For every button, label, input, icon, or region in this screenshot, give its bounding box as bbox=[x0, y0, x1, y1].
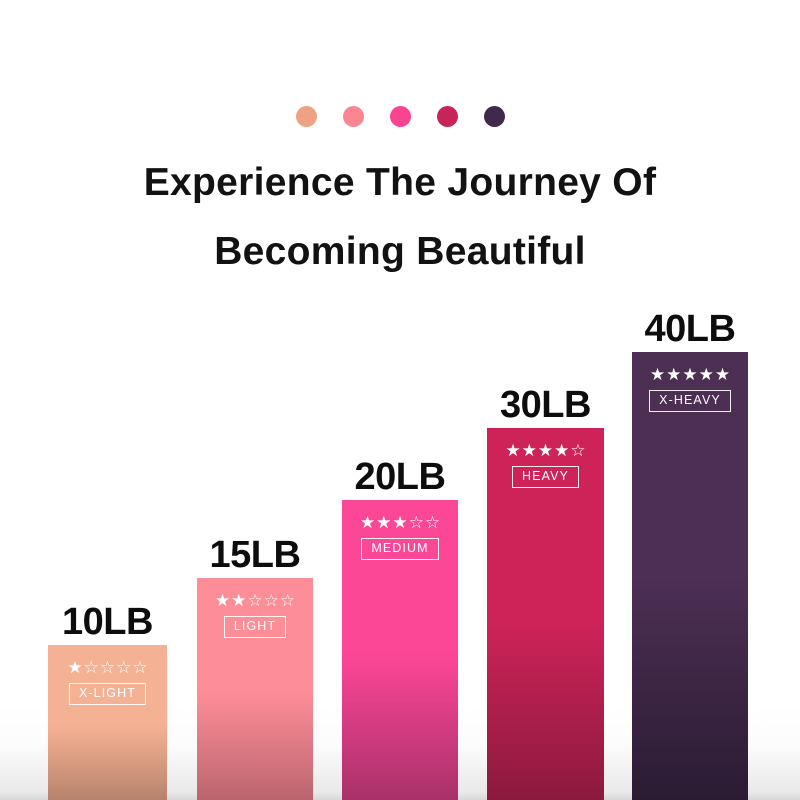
bar-content: ★★★★★X-HEAVY bbox=[632, 366, 748, 412]
bar-group-10lb[interactable]: 10LB★☆☆☆☆X-LIGHT bbox=[48, 645, 167, 800]
star-rating: ★★★☆☆ bbox=[360, 514, 440, 531]
star-empty-icon: ☆ bbox=[570, 442, 585, 459]
bar-content: ★★★☆☆MEDIUM bbox=[342, 514, 458, 560]
star-filled-icon: ★ bbox=[650, 366, 665, 383]
star-empty-icon: ☆ bbox=[425, 514, 440, 531]
star-filled-icon: ★ bbox=[699, 366, 714, 383]
star-empty-icon: ☆ bbox=[116, 659, 131, 676]
star-rating: ★☆☆☆☆ bbox=[67, 659, 147, 676]
star-filled-icon: ★ bbox=[505, 442, 520, 459]
star-empty-icon: ☆ bbox=[100, 659, 115, 676]
bar-group-20lb[interactable]: 20LB★★★☆☆MEDIUM bbox=[342, 500, 458, 800]
star-filled-icon: ★ bbox=[392, 514, 407, 531]
bar-weight-label: 15LB bbox=[210, 536, 301, 574]
star-filled-icon: ★ bbox=[522, 442, 537, 459]
star-filled-icon: ★ bbox=[376, 514, 391, 531]
resistance-level-badge: HEAVY bbox=[512, 466, 579, 488]
bar-weight-label: 30LB bbox=[500, 386, 591, 424]
star-filled-icon: ★ bbox=[231, 592, 246, 609]
star-filled-icon: ★ bbox=[682, 366, 697, 383]
star-rating: ★★★★☆ bbox=[505, 442, 585, 459]
star-empty-icon: ☆ bbox=[280, 592, 295, 609]
star-filled-icon: ★ bbox=[666, 366, 681, 383]
star-empty-icon: ☆ bbox=[84, 659, 99, 676]
star-filled-icon: ★ bbox=[215, 592, 230, 609]
star-empty-icon: ☆ bbox=[409, 514, 424, 531]
bar-body: ★☆☆☆☆X-LIGHT bbox=[48, 645, 167, 800]
bar-weight-label: 40LB bbox=[645, 310, 736, 348]
star-rating: ★★☆☆☆ bbox=[215, 592, 295, 609]
bar-group-30lb[interactable]: 30LB★★★★☆HEAVY bbox=[487, 428, 604, 800]
star-empty-icon: ☆ bbox=[132, 659, 147, 676]
bar-weight-label: 10LB bbox=[62, 603, 153, 641]
star-filled-icon: ★ bbox=[554, 442, 569, 459]
bar-group-40lb[interactable]: 40LB★★★★★X-HEAVY bbox=[632, 352, 748, 800]
resistance-band-infographic: Experience The Journey Of Becoming Beaut… bbox=[0, 0, 800, 800]
bar-body: ★★★☆☆MEDIUM bbox=[342, 500, 458, 800]
bar-body: ★★★★☆HEAVY bbox=[487, 428, 604, 800]
star-empty-icon: ☆ bbox=[264, 592, 279, 609]
bar-weight-label: 20LB bbox=[355, 458, 446, 496]
resistance-level-badge: MEDIUM bbox=[361, 538, 438, 560]
bar-content: ★☆☆☆☆X-LIGHT bbox=[48, 659, 167, 705]
bar-content: ★★★★☆HEAVY bbox=[487, 442, 604, 488]
bar-body: ★★☆☆☆LIGHT bbox=[197, 578, 313, 800]
bar-group-15lb[interactable]: 15LB★★☆☆☆LIGHT bbox=[197, 578, 313, 800]
resistance-bar-chart: 10LB★☆☆☆☆X-LIGHT15LB★★☆☆☆LIGHT20LB★★★☆☆M… bbox=[0, 0, 800, 800]
star-filled-icon: ★ bbox=[67, 659, 82, 676]
star-filled-icon: ★ bbox=[360, 514, 375, 531]
bar-body: ★★★★★X-HEAVY bbox=[632, 352, 748, 800]
star-rating: ★★★★★ bbox=[650, 366, 730, 383]
resistance-level-badge: LIGHT bbox=[224, 616, 286, 638]
star-filled-icon: ★ bbox=[538, 442, 553, 459]
resistance-level-badge: X-LIGHT bbox=[69, 683, 146, 705]
bar-content: ★★☆☆☆LIGHT bbox=[197, 592, 313, 638]
star-filled-icon: ★ bbox=[715, 366, 730, 383]
star-empty-icon: ☆ bbox=[247, 592, 262, 609]
bar-bottom-shade bbox=[632, 352, 748, 800]
resistance-level-badge: X-HEAVY bbox=[649, 390, 731, 412]
